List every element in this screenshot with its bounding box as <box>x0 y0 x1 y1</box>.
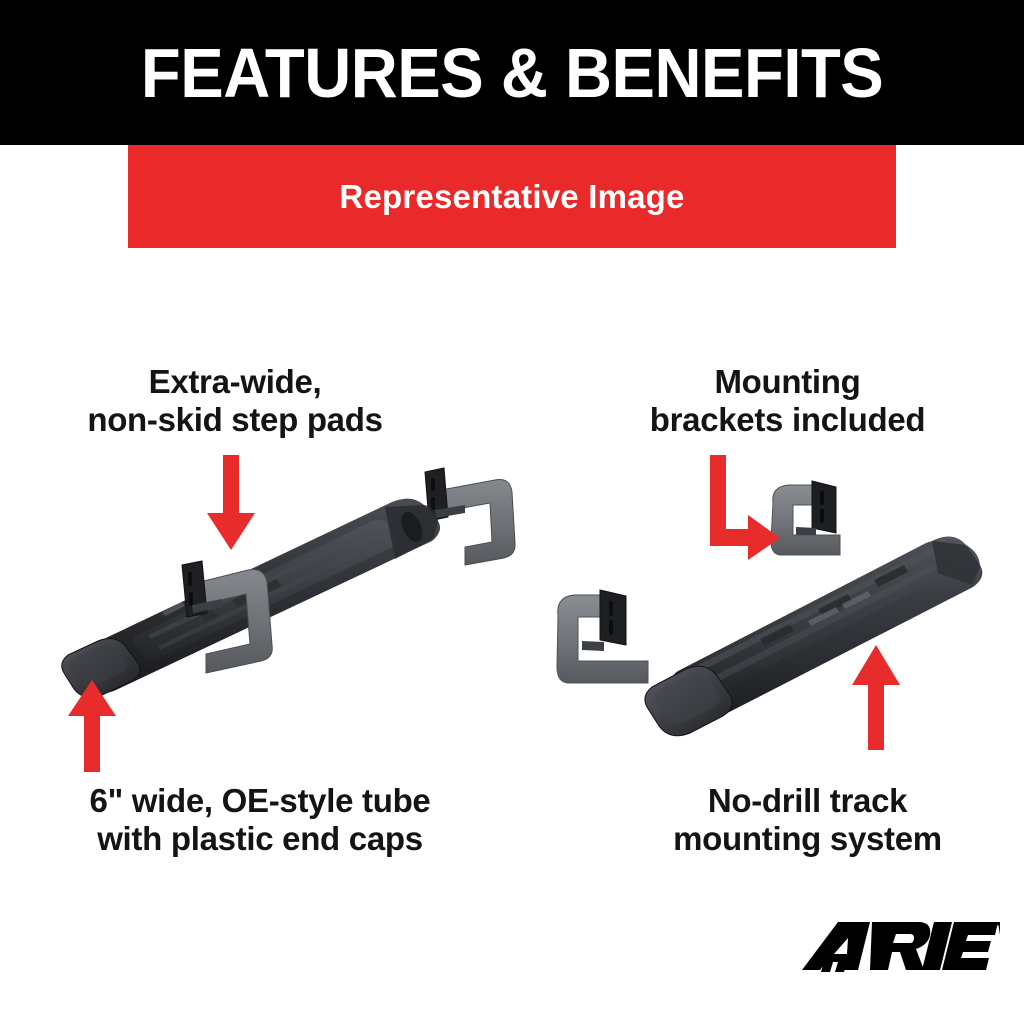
infographic-page: FEATURES & BENEFITS Representative Image… <box>0 0 1024 1024</box>
registered-trademark-symbol: ® <box>990 922 997 932</box>
callout-arrow-elbow-brackets <box>700 455 780 560</box>
header-bar: FEATURES & BENEFITS <box>0 0 1024 145</box>
callout-label-no-drill-track-mount: No-drill track mounting system <box>600 782 1015 859</box>
callout-arrow-up-no-drill-track <box>850 645 902 750</box>
callout-label-extra-wide-step-pads: Extra-wide, non-skid step pads <box>10 363 460 440</box>
aries-brand-logo: ® <box>800 918 1000 974</box>
callout-arrow-up-end-caps <box>66 680 118 772</box>
mounting-bracket-rear <box>771 481 840 555</box>
page-title: FEATURES & BENEFITS <box>141 38 883 108</box>
callout-label-mounting-brackets-included: Mounting brackets included <box>560 363 1015 440</box>
mounting-bracket-rear <box>425 468 515 565</box>
callout-label-oe-style-tube: 6" wide, OE-style tube with plastic end … <box>10 782 510 859</box>
callout-arrow-down-step-pads <box>205 455 257 550</box>
banner-label: Representative Image <box>339 178 684 216</box>
aries-wordmark-icon: ® <box>800 918 1000 974</box>
mounting-bracket-front <box>557 590 648 683</box>
representative-image-banner: Representative Image <box>128 145 896 248</box>
